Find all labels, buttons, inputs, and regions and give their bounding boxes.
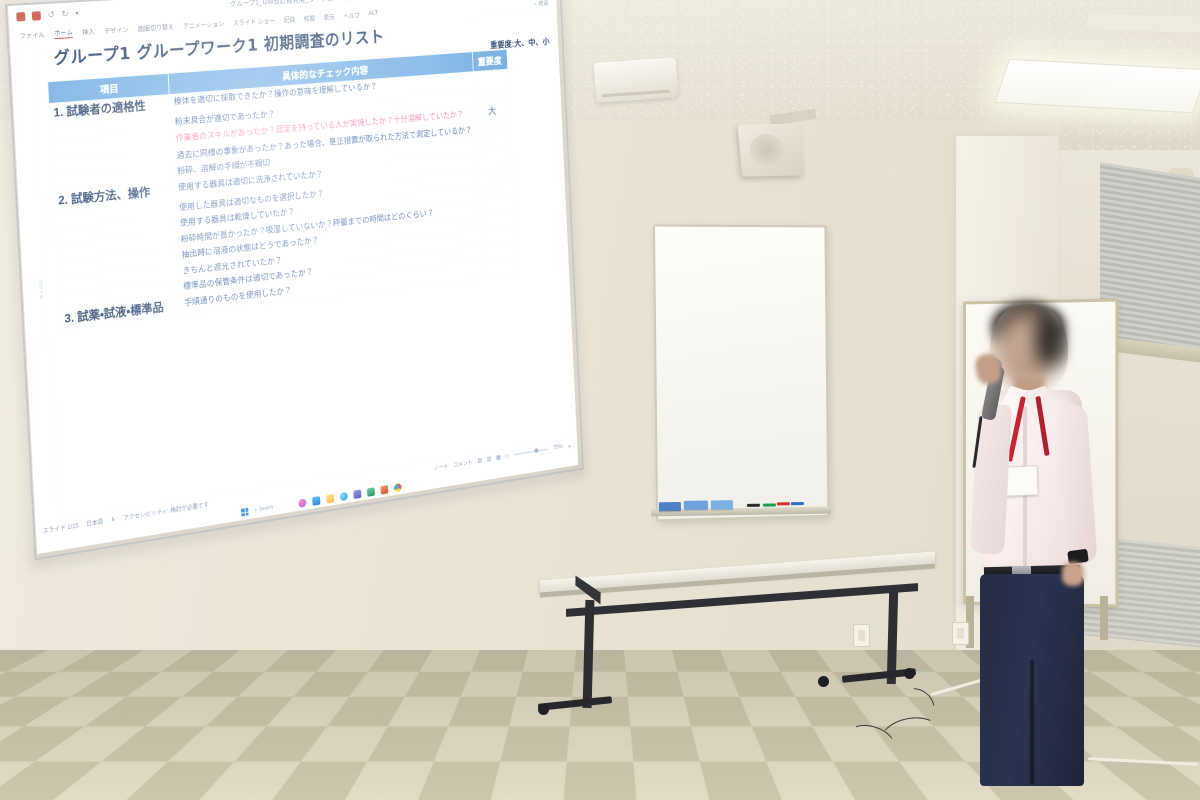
projection-screen: ↺ ↻ ▾ グループ1_GW改訂教育用_ワーク1(PCR) - PowerPoi… — [8, 0, 582, 562]
wall-outlet-icon — [853, 624, 870, 647]
trouser-seam — [1030, 660, 1034, 784]
whiteboard — [653, 224, 829, 521]
air-conditioner-icon — [594, 57, 679, 103]
marker-red-icon — [777, 502, 790, 505]
marker-green-icon — [763, 503, 776, 506]
marker-black-icon — [747, 504, 760, 507]
eraser-icon — [659, 502, 681, 511]
eraser-icon — [684, 501, 708, 510]
ceiling-speaker-icon — [738, 124, 805, 177]
table-caster — [538, 704, 549, 715]
presenter — [952, 300, 1112, 800]
table-caster — [904, 668, 915, 679]
screenshot-stage: ↺ ↻ ▾ グループ1_GW改訂教育用_ワーク1(PCR) - PowerPoi… — [0, 0, 1200, 800]
table-caster — [818, 676, 829, 687]
screen-border — [5, 0, 584, 560]
eraser-icon — [711, 500, 733, 509]
marker-blue-icon — [791, 502, 804, 505]
smoke-detector-icon — [884, 159, 902, 183]
right-hand — [1062, 562, 1084, 586]
